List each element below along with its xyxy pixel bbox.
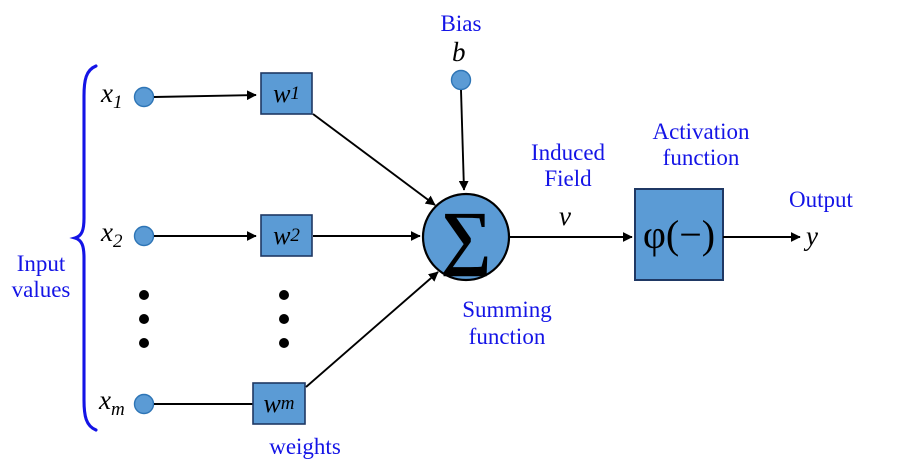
induced-field-label-line2: Field — [512, 167, 624, 190]
input-label-x2: x2 — [101, 219, 122, 251]
connector-x1-to-w1 — [154, 95, 256, 97]
bias-node — [452, 71, 471, 90]
ellipsis-dot — [279, 338, 289, 348]
activation-function-label-line2: function — [634, 146, 768, 169]
input-node-x1 — [135, 88, 154, 107]
connector-wm-to-sum — [306, 272, 438, 387]
summing-function-label-line1: Summing — [443, 298, 571, 321]
weight-label-w1: w1 — [261, 73, 312, 114]
weight-label-w2: w2 — [261, 215, 312, 256]
connector-w1-to-sum — [313, 114, 435, 205]
activation-function-label-line1: Activation — [634, 120, 768, 143]
weights-label: weights — [249, 435, 361, 458]
bias-symbol-label: b — [452, 39, 466, 66]
ellipsis-dot — [139, 290, 149, 300]
input-values-label-line1: Input — [4, 252, 78, 275]
sigma-glyph: ∑ — [423, 194, 509, 280]
input-node-x2 — [135, 227, 154, 246]
phi-glyph: φ(−) — [635, 189, 723, 280]
induced-field-label-line1: Induced — [512, 141, 624, 164]
ellipsis-dot — [279, 314, 289, 324]
ellipsis-dot — [139, 314, 149, 324]
weight-label-wm: wm — [253, 383, 305, 424]
output-symbol-label: y — [806, 223, 818, 250]
input-label-xm: xm — [99, 387, 125, 419]
input-values-label-line2: values — [4, 278, 78, 301]
input-brace — [75, 66, 96, 430]
bias-label: Bias — [415, 12, 507, 35]
output-label: Output — [778, 188, 864, 211]
summing-function-label-line2: function — [443, 325, 571, 348]
neuron-diagram: x1 x2 xm w1 w2 wm Input values weights B… — [0, 0, 900, 462]
input-label-x1: x1 — [101, 80, 122, 112]
ellipsis-dot — [139, 338, 149, 348]
induced-field-symbol-label: v — [559, 203, 571, 230]
ellipsis-dot — [279, 290, 289, 300]
connector-bias-to-sum — [461, 90, 464, 190]
input-node-xm — [135, 395, 154, 414]
